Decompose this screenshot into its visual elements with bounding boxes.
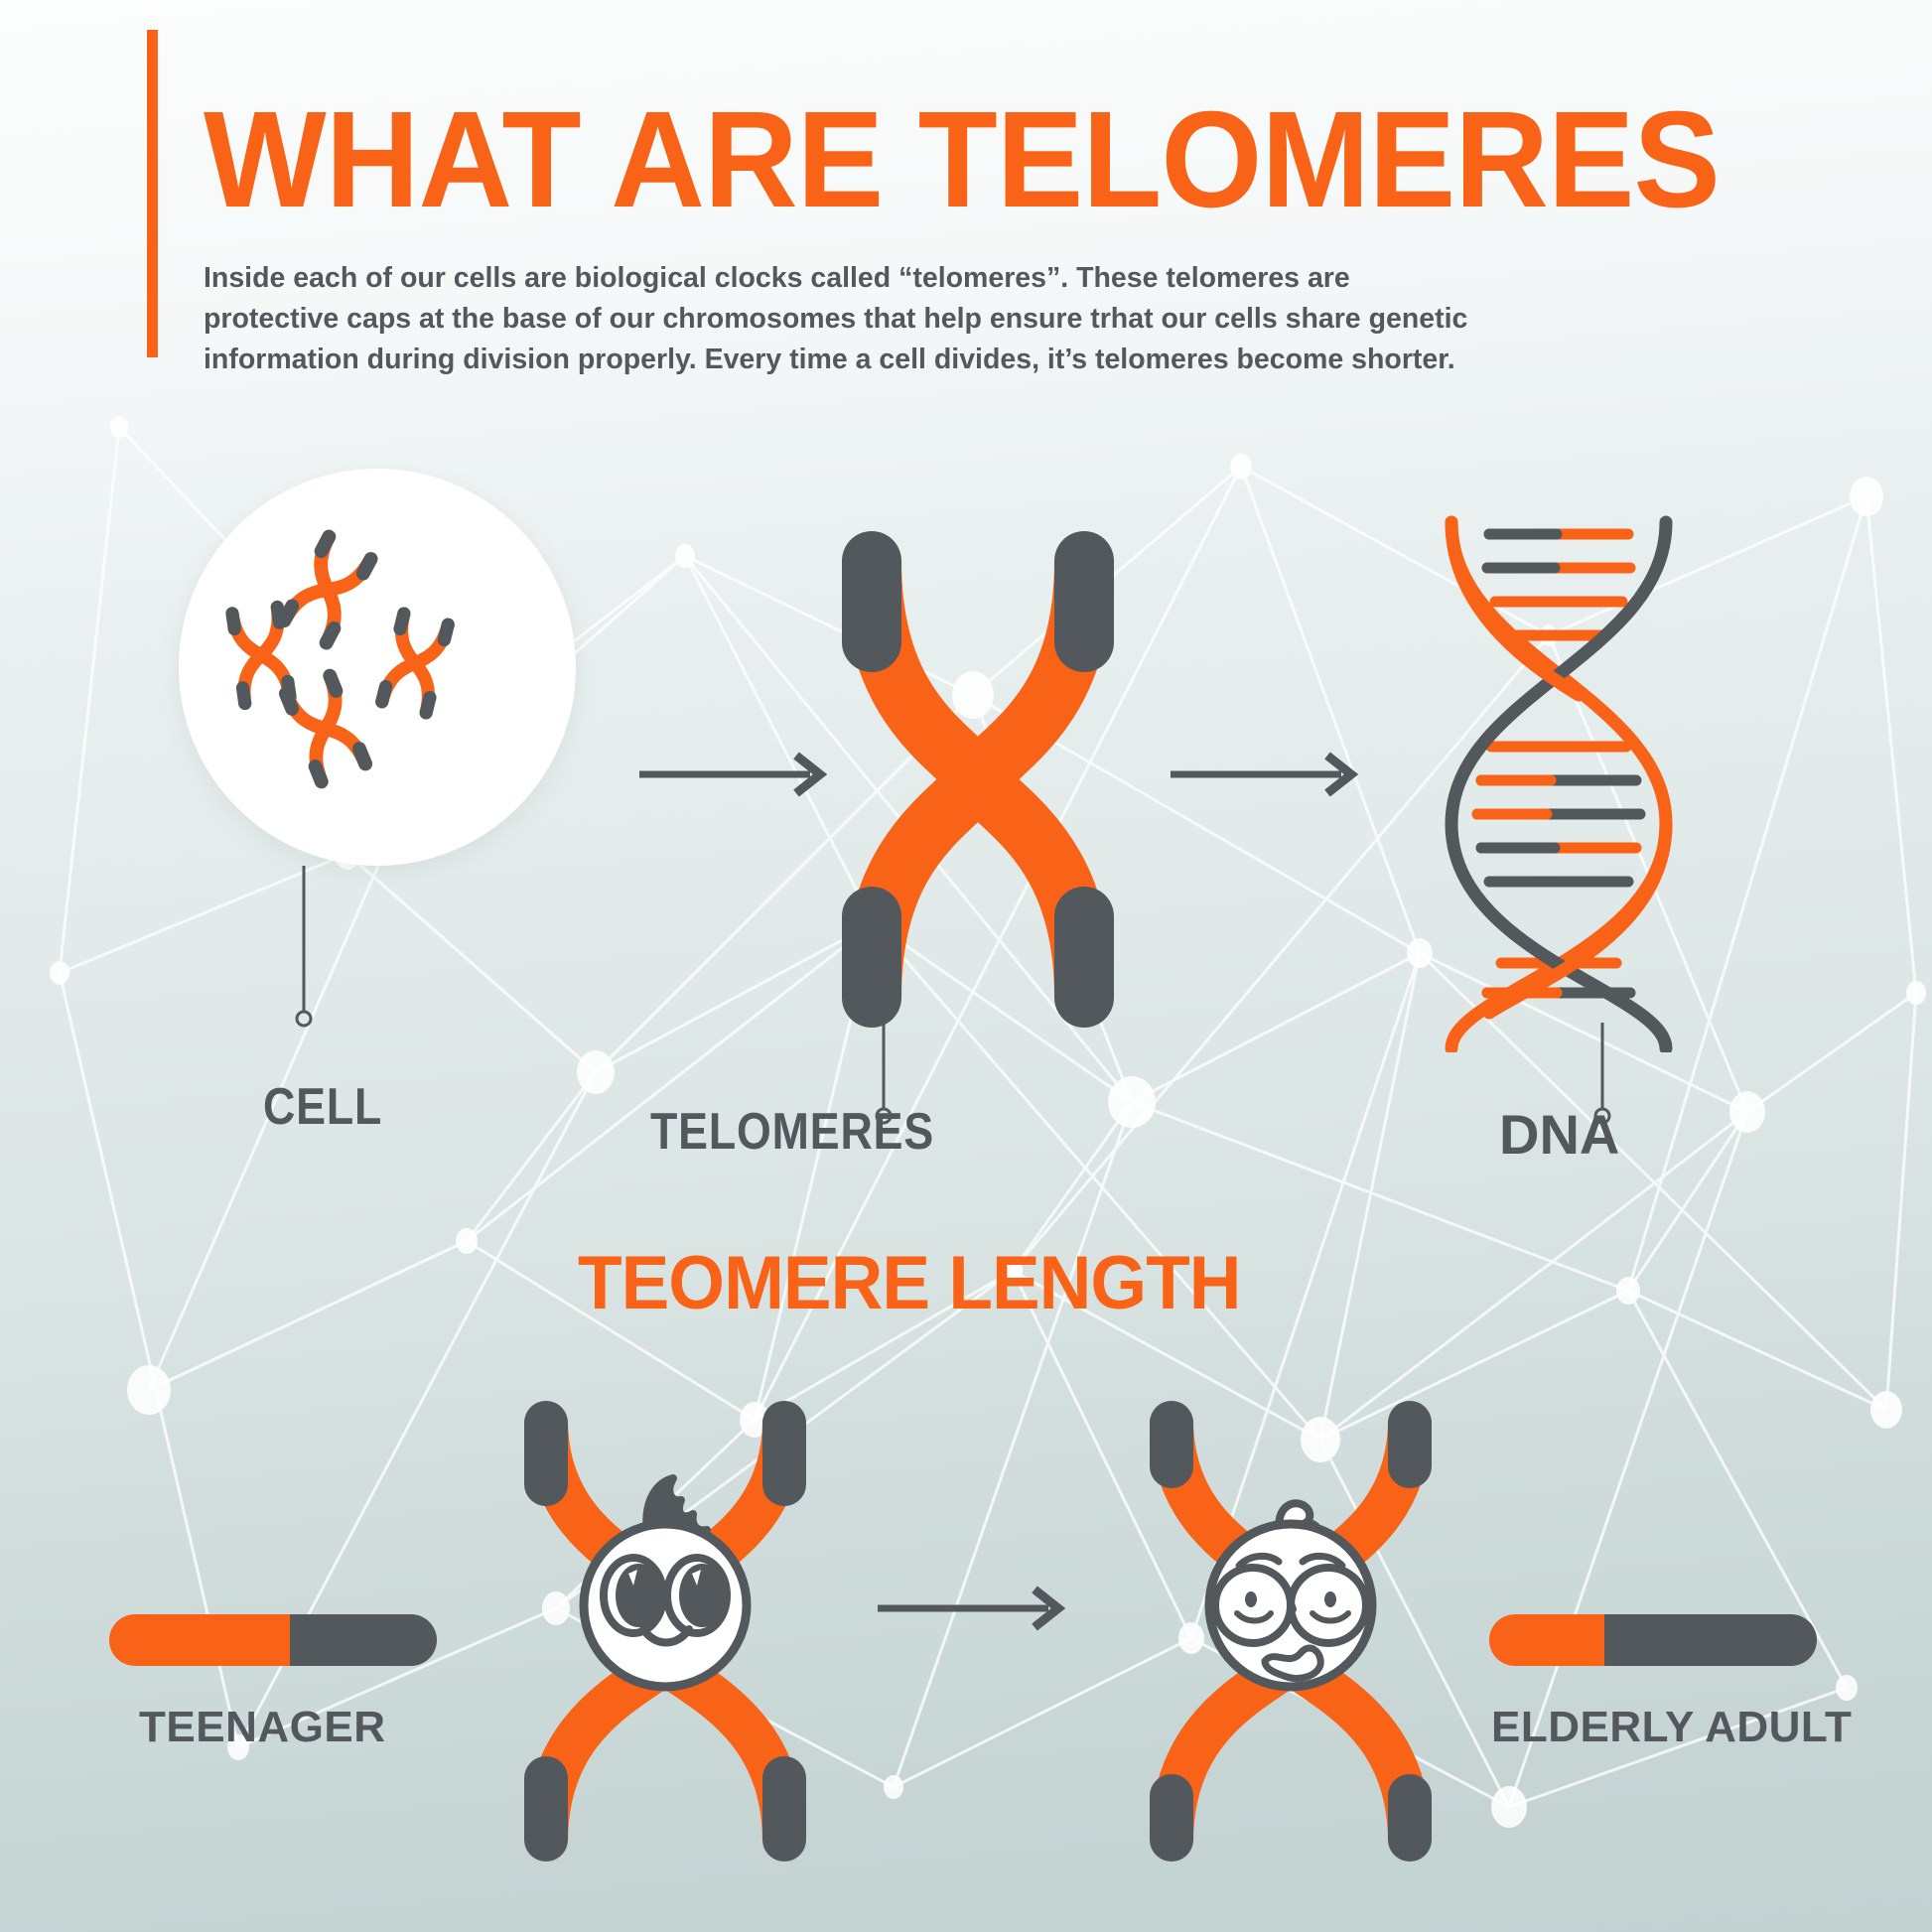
label-cell: CELL (263, 1077, 382, 1137)
length-bar-teenager (109, 1614, 437, 1666)
arrow-right-icon-3 (874, 1584, 1072, 1633)
chromosome-x-icon (834, 501, 1122, 1057)
bar-segment-dark-teenager (290, 1614, 438, 1666)
bar-segment-orange-teenager (109, 1614, 290, 1666)
bar-segment-dark-elderly (1604, 1614, 1818, 1666)
young-chromosome-character (516, 1375, 814, 1881)
length-bar-elderly-adult (1489, 1614, 1817, 1666)
arrow-right-icon-2 (1167, 750, 1365, 799)
section-title-telomere-length: TEOMERE LENGTH (578, 1246, 1241, 1321)
label-elderly-adult: ELDERLY ADULT (1491, 1703, 1852, 1752)
cell-callout-line (284, 866, 324, 1035)
infographic-canvas: WHAT ARE TELOMERES Inside each of our ce… (0, 0, 1932, 1932)
elderly-chromosome-character (1142, 1375, 1440, 1881)
page-title: WHAT ARE TELOMERES (204, 91, 1720, 228)
bar-segment-orange-elderly (1489, 1614, 1604, 1666)
cell-chromosomes-icon (179, 469, 576, 866)
arrow-right-icon (635, 750, 834, 799)
label-dna: DNA (1499, 1102, 1619, 1167)
dna-double-helix-icon (1430, 496, 1688, 1052)
intro-paragraph: Inside each of our cells are biological … (204, 258, 1484, 380)
label-teenager: TEENAGER (139, 1703, 385, 1752)
label-telomeres: TELOMERES (650, 1102, 934, 1162)
header-accent-bar (147, 30, 158, 357)
